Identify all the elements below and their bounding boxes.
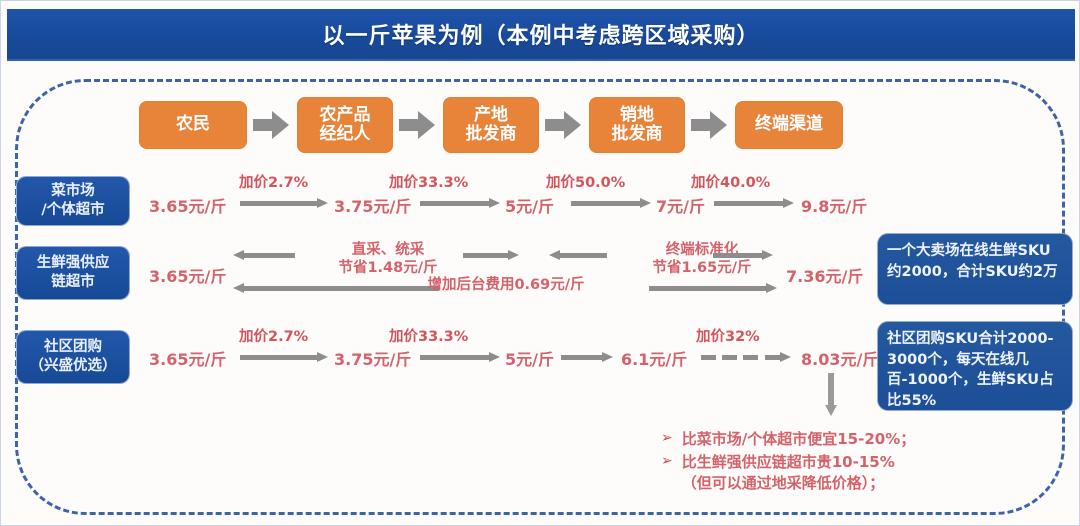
row1-price-3: 7元/斤 <box>656 193 705 217</box>
row2-price-end: 7.36元/斤 <box>786 263 863 287</box>
row2-arrow-fwd-1 <box>463 251 519 260</box>
flow-node-farmer[interactable]: 农民 <box>139 101 247 149</box>
flow-node-destination-wholesaler[interactable]: 销地 批发商 <box>589 97 685 153</box>
row3-price-4: 8.03元/斤 <box>801 346 878 370</box>
row1-arrow-3 <box>714 199 794 208</box>
row3-markup-1: 加价33.3% <box>389 325 468 346</box>
row1-markup-0: 加价2.7% <box>239 171 308 192</box>
row2-arrow-fwd-3 <box>649 284 777 293</box>
row2-price-start: 3.65元/斤 <box>149 263 226 287</box>
flow-node-terminal-channel[interactable]: 终端渠道 <box>735 101 843 149</box>
row3-price-1: 3.75元/斤 <box>334 346 411 370</box>
row3-markup-3: 加价32% <box>696 325 760 346</box>
bullet-item: ➢ 比生鲜强供应链超市贵10-15% （但可以通过地采降低价格）； <box>661 452 1061 493</box>
row1-markup-3: 加价40.0% <box>691 171 770 192</box>
row3-price-3: 6.1元/斤 <box>621 346 687 370</box>
row2-arrow-savings-2 <box>549 251 607 260</box>
bullet-item: ➢ 比菜市场/个体超市便宜15-20%； <box>661 429 1061 449</box>
page-title: 以一斤苹果为例（本例中考虑跨区域采购） <box>322 18 759 50</box>
row3-price-0: 3.65元/斤 <box>149 346 226 370</box>
bullet-text: 比菜市场/个体超市便宜15-20%； <box>682 429 915 449</box>
bullet-text: 比生鲜强供应链超市贵10-15% （但可以通过地采降低价格）； <box>682 452 895 493</box>
right-block-arrow-icon <box>545 110 583 140</box>
row1-price-0: 3.65元/斤 <box>149 193 226 217</box>
row1-arrow-2 <box>571 199 651 208</box>
slide-title-bar: 以一斤苹果为例（本例中考虑跨区域采购） <box>7 9 1075 61</box>
right-block-arrow-icon <box>399 110 437 140</box>
row1-markup-2: 加价50.0% <box>546 171 625 192</box>
right-block-arrow-icon <box>253 110 291 140</box>
row1-price-4: 9.8元/斤 <box>801 193 867 217</box>
bullet-marker-icon: ➢ <box>661 452 673 471</box>
bullet-marker-icon: ➢ <box>661 429 673 448</box>
row1-price-2: 5元/斤 <box>505 193 554 217</box>
row2-note-backend-fee: 增加后台费用0.69元/斤 <box>391 276 621 294</box>
slide-canvas: 以一斤苹果为例（本例中考虑跨区域采购） 农民 农产品 经纪人 产地 批发商 销地… <box>0 0 1080 526</box>
comparison-bullets: ➢ 比菜市场/个体超市便宜15-20%； ➢ 比生鲜强供应链超市贵10-15% … <box>661 429 1061 496</box>
channel-label-wet-market[interactable]: 菜市场 /个体超市 <box>17 177 129 225</box>
channel-label-fresh-supply-chain-supermarket[interactable]: 生鲜强供应 链超市 <box>17 247 129 299</box>
callout-group-buy-sku: 社区团购SKU合计2000-3000个，每天在线几百-1000个，生鲜SKU占比… <box>877 321 1073 411</box>
row1-arrow-1 <box>420 199 500 208</box>
channel-label-community-group-buy[interactable]: 社区团购 （兴盛优选） <box>17 331 129 383</box>
supply-chain-flow: 农民 农产品 经纪人 产地 批发商 销地 批发商 终端渠道 <box>139 97 843 153</box>
row2-note-direct-purchase: 直采、统采 节省1.48元/斤 <box>293 241 483 277</box>
row3-arrow-1 <box>420 353 500 362</box>
row1-markup-1: 加价33.3% <box>389 171 468 192</box>
flow-node-origin-wholesaler[interactable]: 产地 批发商 <box>443 97 539 153</box>
row3-arrow-3-dashed <box>701 353 791 362</box>
row3-arrow-2 <box>561 353 613 362</box>
row3-markup-0: 加价2.7% <box>239 325 308 346</box>
row2-arrow-savings-1 <box>233 251 295 260</box>
row1-arrow-0 <box>240 199 328 208</box>
row1-price-1: 3.75元/斤 <box>334 193 411 217</box>
down-arrow-icon <box>825 373 837 417</box>
row2-arrow-fwd-2 <box>713 251 773 260</box>
row3-price-2: 5元/斤 <box>505 346 554 370</box>
row3-arrow-0 <box>240 353 328 362</box>
callout-hypermarket-sku: 一个大卖场在线生鲜SKU约2000，合计SKU约2万 <box>877 233 1073 305</box>
flow-node-broker[interactable]: 农产品 经纪人 <box>297 97 393 153</box>
right-block-arrow-icon <box>691 110 729 140</box>
